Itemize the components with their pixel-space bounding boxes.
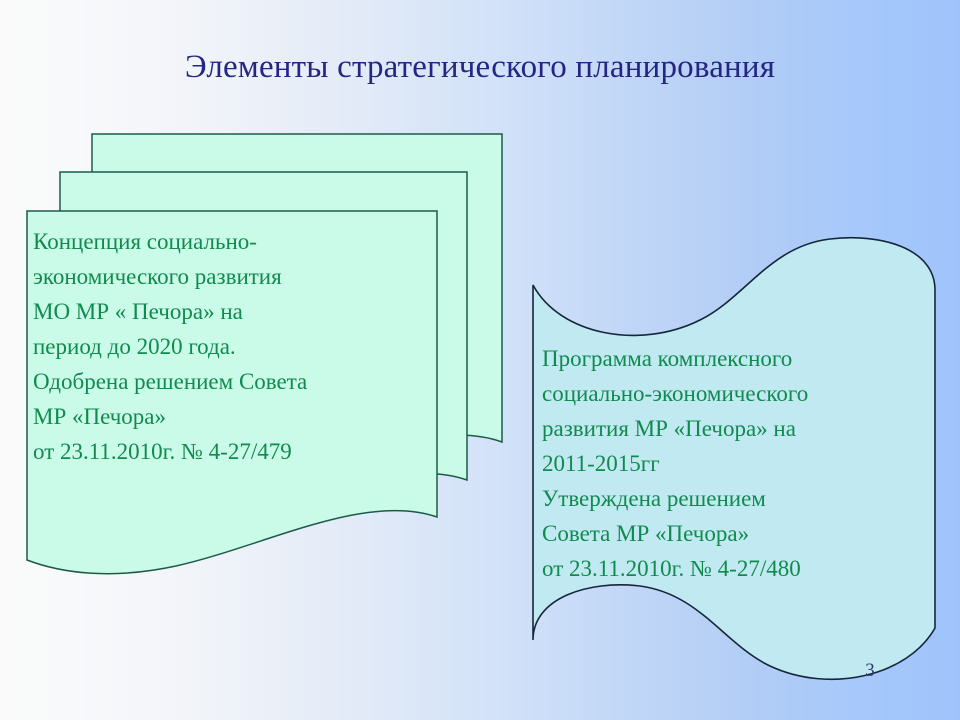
text-line: социально-экономического xyxy=(542,376,932,411)
text-line: от 23.11.2010г. № 4-27/480 xyxy=(542,551,932,586)
text-line: Совета МР «Печора» xyxy=(542,516,932,551)
right-wave-text: Программа комплексногосоциально-экономич… xyxy=(542,341,932,586)
text-line: МР «Печора» xyxy=(33,399,433,434)
text-line: развития МР «Печора» на xyxy=(542,411,932,446)
left-document-text: Концепция социально-экономического разви… xyxy=(33,224,433,469)
text-line: Программа комплексного xyxy=(542,341,932,376)
text-line: Концепция социально- xyxy=(33,224,433,259)
presentation-slide: Элементы стратегического планирования Ко… xyxy=(0,0,960,720)
text-line: Одобрена решением Совета xyxy=(33,364,433,399)
text-line: от 23.11.2010г. № 4-27/479 xyxy=(33,434,433,469)
page-number: 3 xyxy=(855,660,885,682)
text-line: Утверждена решением xyxy=(542,481,932,516)
text-line: 2011-2015гг xyxy=(542,446,932,481)
text-line: МО МР « Печора» на xyxy=(33,294,433,329)
text-line: экономического развития xyxy=(33,259,433,294)
text-line: период до 2020 года. xyxy=(33,329,433,364)
